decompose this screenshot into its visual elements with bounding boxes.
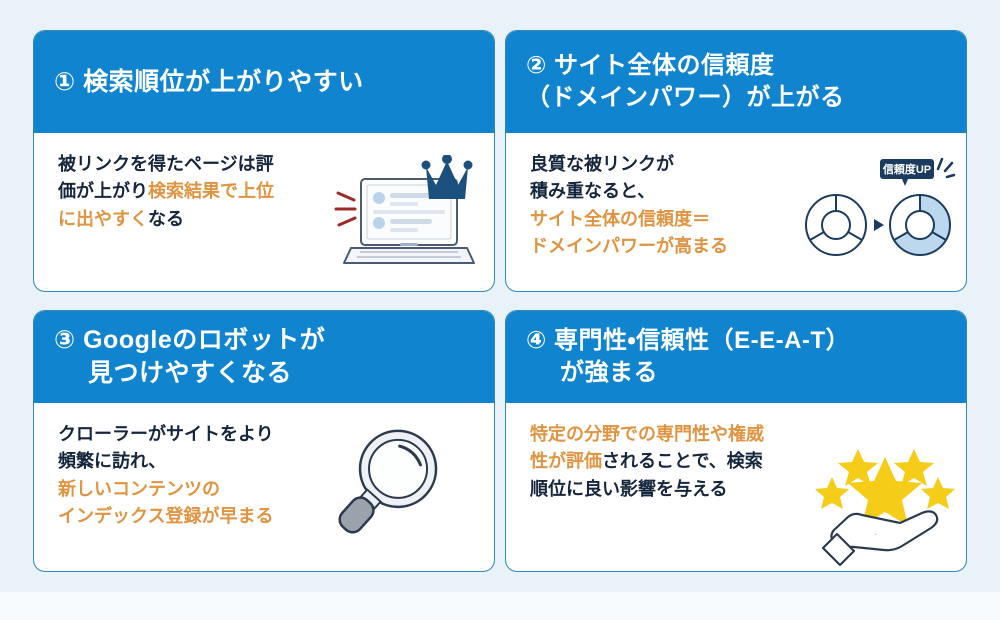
card-3-body: クローラーがサイトをより 頻繁に訪れ、 新しいコンテンツの インデックス登録が早… bbox=[34, 403, 494, 571]
card-1-seg-3a: に出やすく bbox=[58, 209, 148, 229]
card-2-body-line-3: サイト全体の信頼度＝ bbox=[530, 206, 820, 233]
card-2-body-line-4: ドメインパワーが高まる bbox=[530, 233, 820, 260]
card-3-title-line-2: 見つけやすくなる bbox=[54, 357, 325, 390]
card-4-title-line-2: が強まる bbox=[526, 357, 850, 389]
card-3-body-line-2: 頻繁に訪れ、 bbox=[58, 448, 348, 475]
card-4-body-line-3: 順位に良い影響を与える bbox=[530, 476, 820, 503]
benefit-card-grid: ① 検索順位が上がりやすい 被リンクを得たページは評 価が上がり検索結果で上位 … bbox=[33, 30, 967, 572]
card-2-body-text: 良質な被リンクが 積み重なると、 サイト全体の信頼度＝ ドメインパワーが高まる bbox=[530, 151, 820, 260]
card-4-header: ④ 専門性・信頼性（E-E-A-T） が強まる bbox=[506, 311, 966, 403]
card-2-title-line-2: （ドメインパワー）が上がる bbox=[526, 82, 845, 114]
card-3-title: ③ Googleのロボットが 見つけやすくなる bbox=[54, 324, 325, 390]
card-2-body: 良質な被リンクが 積み重なると、 サイト全体の信頼度＝ ドメインパワーが高まる bbox=[506, 133, 966, 291]
magnifying-glass-icon bbox=[336, 425, 466, 555]
hand-stars-icon bbox=[810, 427, 960, 567]
laptop-crown-icon bbox=[334, 155, 484, 285]
card-1-body: 被リンクを得たページは評 価が上がり検索結果で上位 に出やすくなる bbox=[34, 133, 494, 291]
card-2-title-line-1: ② サイト全体の信頼度 bbox=[526, 50, 845, 82]
card-3-body-line-1: クローラーがサイトをより bbox=[58, 421, 348, 448]
trust-up-badge: 信頼度UP bbox=[880, 159, 934, 186]
card-3-body-line-4: インデックス登録が早まる bbox=[58, 503, 348, 530]
card-1-body-line-3: に出やすくなる bbox=[58, 206, 348, 233]
benefit-card-4: ④ 専門性・信頼性（E-E-A-T） が強まる 特定の分野での専門性や権威 性が… bbox=[505, 310, 967, 572]
card-2-body-line-1: 良質な被リンクが bbox=[530, 151, 820, 178]
card-1-body-text: 被リンクを得たページは評 価が上がり検索結果で上位 に出やすくなる bbox=[58, 151, 348, 233]
card-2-header: ② サイト全体の信頼度 （ドメインパワー）が上がる bbox=[506, 31, 966, 133]
card-3-title-line-1: ③ Googleのロボットが bbox=[54, 324, 325, 357]
card-1-title: ① 検索順位が上がりやすい bbox=[54, 66, 364, 99]
card-1-seg-2b: 検索結果で上位 bbox=[148, 181, 274, 201]
card-2-title: ② サイト全体の信頼度 （ドメインパワー）が上がる bbox=[526, 50, 845, 113]
card-4-body-text: 特定の分野での専門性や権威 性が評価されることで、検索 順位に良い影響を与える bbox=[530, 421, 820, 503]
card-3-body-line-3: 新しいコンテンツの bbox=[58, 476, 348, 503]
svg-text:信頼度UP: 信頼度UP bbox=[882, 162, 931, 176]
card-1-seg-3b: なる bbox=[148, 209, 184, 229]
benefit-card-3: ③ Googleのロボットが 見つけやすくなる クローラーがサイトをより 頻繁に… bbox=[33, 310, 495, 572]
card-4-body-line-2: 性が評価されることで、検索 bbox=[530, 448, 820, 475]
card-1-header: ① 検索順位が上がりやすい bbox=[34, 31, 494, 133]
card-1-seg-1a: 被リンクを得たページは評 bbox=[58, 154, 274, 174]
card-1-title-line-1: ① 検索順位が上がりやすい bbox=[54, 66, 364, 99]
card-4-seg-2a: 性が評価 bbox=[530, 451, 602, 471]
card-1-seg-2a: 価が上がり bbox=[58, 181, 148, 201]
benefit-card-2: ② サイト全体の信頼度 （ドメインパワー）が上がる 良質な被リンクが 積み重なる… bbox=[505, 30, 967, 292]
benefit-card-1: ① 検索順位が上がりやすい 被リンクを得たページは評 価が上がり検索結果で上位 … bbox=[33, 30, 495, 292]
card-4-seg-2b: されることで、検索 bbox=[602, 451, 763, 471]
card-4-title-line-1: ④ 専門性・信頼性（E-E-A-T） bbox=[526, 325, 850, 357]
card-3-body-text: クローラーがサイトをより 頻繁に訪れ、 新しいコンテンツの インデックス登録が早… bbox=[58, 421, 348, 530]
infographic-page: ① 検索順位が上がりやすい 被リンクを得たページは評 価が上がり検索結果で上位 … bbox=[0, 0, 1000, 620]
card-2-body-line-2: 積み重なると、 bbox=[530, 178, 820, 205]
card-1-body-line-1: 被リンクを得たページは評 bbox=[58, 151, 348, 178]
card-4-body: 特定の分野での専門性や権威 性が評価されることで、検索 順位に良い影響を与える bbox=[506, 403, 966, 571]
card-1-body-line-2: 価が上がり検索結果で上位 bbox=[58, 178, 348, 205]
donut-charts-icon: 信頼度UP bbox=[802, 153, 962, 273]
card-4-body-line-1: 特定の分野での専門性や権威 bbox=[530, 421, 820, 448]
card-3-header: ③ Googleのロボットが 見つけやすくなる bbox=[34, 311, 494, 403]
card-4-title: ④ 専門性・信頼性（E-E-A-T） が強まる bbox=[526, 325, 850, 388]
